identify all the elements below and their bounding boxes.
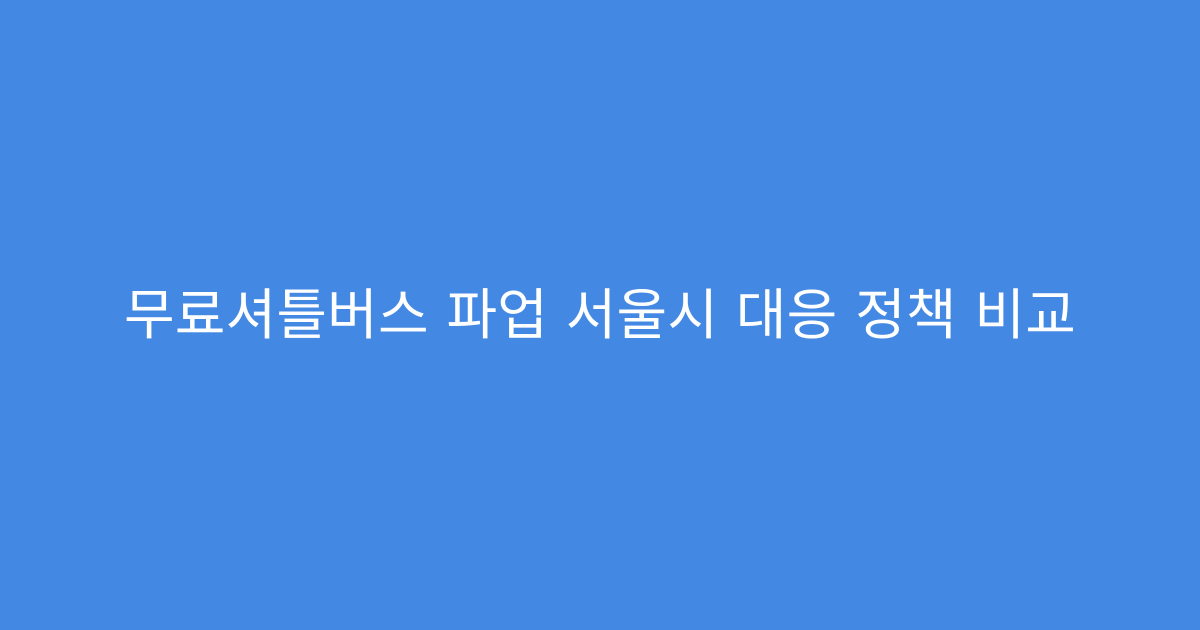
page-title: 무료셔틀버스 파업 서울시 대응 정책 비교 — [50, 283, 1150, 348]
title-card: 무료셔틀버스 파업 서울시 대응 정책 비교 — [0, 0, 1200, 630]
